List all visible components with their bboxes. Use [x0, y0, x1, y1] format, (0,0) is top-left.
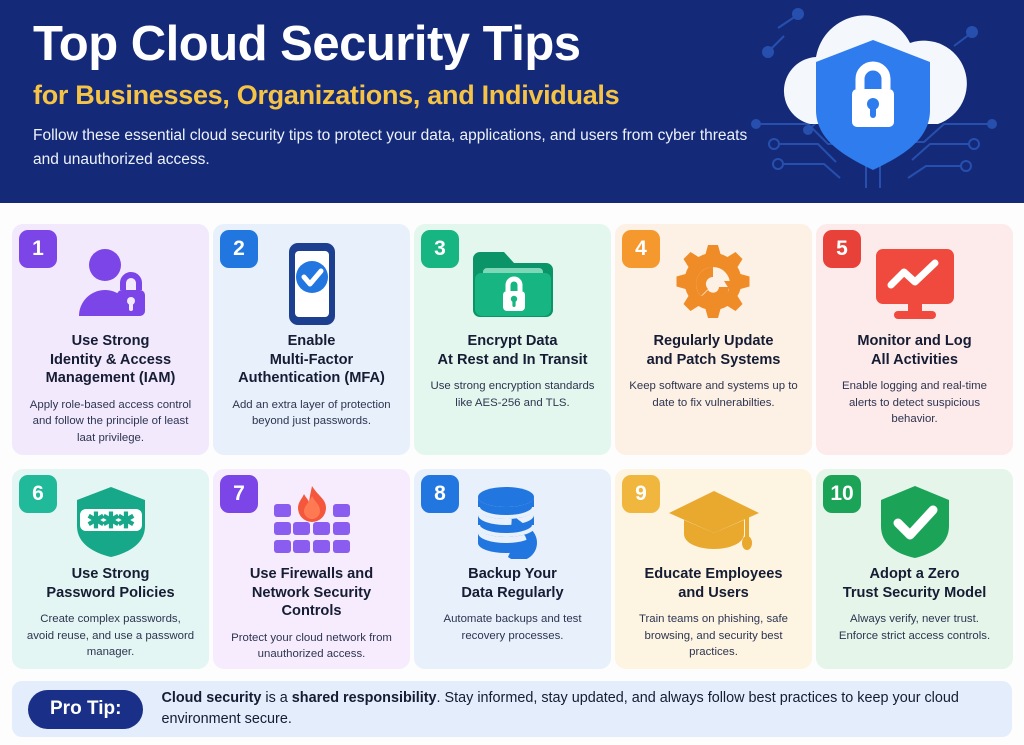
pro-tip-badge: Pro Tip: — [28, 690, 143, 729]
tip-title: Adopt a Zero Trust Security Model — [827, 565, 1002, 602]
tip-number-badge: 1 — [19, 230, 57, 268]
tip-card-8[interactable]: 8 Backup Your Data Regularly Automate ba… — [414, 469, 611, 669]
tip-title: Encrypt Data At Rest and In Transit — [425, 332, 600, 369]
tip-number-badge: 5 — [823, 230, 861, 268]
header-banner: Top Cloud Security Tips for Businesses, … — [0, 0, 1024, 203]
tip-description: Keep software and systems up to date to … — [626, 378, 801, 411]
pro-tip-bold-2: shared responsibility — [292, 690, 437, 706]
tip-card-1[interactable]: 1 Use Strong Identity & Access Managemen… — [12, 224, 209, 455]
pro-tip-bold-1: Cloud security — [161, 690, 261, 706]
svg-text:✱: ✱ — [116, 508, 134, 533]
tip-number-badge: 10 — [823, 475, 861, 513]
tip-description: Automate backups and test recovery proce… — [425, 611, 600, 644]
tip-number-badge: 9 — [622, 475, 660, 513]
tip-title: Use Firewalls and Network Security Contr… — [224, 565, 399, 621]
tip-description: Add an extra layer of protection beyond … — [224, 397, 399, 430]
tip-number-badge: 7 — [220, 475, 258, 513]
tip-card-7[interactable]: 7 — [213, 469, 410, 669]
tip-description: Always verify, never trust. Enforce stri… — [827, 611, 1002, 644]
tips-grid: 1 Use Strong Identity & Access Managemen… — [12, 224, 1012, 669]
page-lede: Follow these essential cloud security ti… — [33, 124, 748, 172]
tip-title: Use Strong Identity & Access Management … — [23, 332, 198, 388]
tip-description: Apply role-based access control and foll… — [23, 397, 198, 446]
pro-tip-bar: Pro Tip: Cloud security is a shared resp… — [12, 681, 1012, 737]
cloud-shield-lock-icon — [748, 6, 998, 196]
tip-card-2[interactable]: 2 Enable Multi-Factor Authentication (MF… — [213, 224, 410, 455]
pro-tip-mid: is a — [261, 690, 291, 706]
tip-card-4[interactable]: 4 Regularly Update and Patch Systems Kee… — [615, 224, 812, 455]
tip-description: Create complex passwords, avoid reuse, a… — [23, 611, 198, 660]
tip-description: Enable logging and real-time alerts to d… — [827, 378, 1002, 427]
tip-number-badge: 3 — [421, 230, 459, 268]
tip-card-6[interactable]: 6 ✱ ✱ ✱ Use Strong Password Policies Cre… — [12, 469, 209, 669]
tip-card-9[interactable]: 9 Educate Employees and Users Train team… — [615, 469, 812, 669]
tip-number-badge: 4 — [622, 230, 660, 268]
tip-description: Train teams on phishing, safe browsing, … — [626, 611, 801, 660]
tip-description: Use strong encryption standards like AES… — [425, 378, 600, 411]
tip-title: Educate Employees and Users — [626, 565, 801, 602]
page-title: Top Cloud Security Tips — [33, 18, 753, 71]
tip-title: Enable Multi-Factor Authentication (MFA) — [224, 332, 399, 388]
tip-number-badge: 8 — [421, 475, 459, 513]
page-subtitle: for Businesses, Organizations, and Indiv… — [33, 80, 753, 111]
tip-description: Protect your cloud network from unauthor… — [224, 630, 399, 663]
infographic-page: Top Cloud Security Tips for Businesses, … — [0, 0, 1024, 745]
tip-title: Monitor and Log All Activities — [827, 332, 1002, 369]
tip-number-badge: 6 — [19, 475, 57, 513]
tip-title: Use Strong Password Policies — [23, 565, 198, 602]
tip-card-10[interactable]: 10 Adopt a Zero Trust Security Model Alw… — [816, 469, 1013, 669]
tip-number-badge: 2 — [220, 230, 258, 268]
tip-title: Regularly Update and Patch Systems — [626, 332, 801, 369]
pro-tip-text: Cloud security is a shared responsibilit… — [161, 688, 996, 731]
tip-card-5[interactable]: 5 Monitor and Log All Activities Enable … — [816, 224, 1013, 455]
tip-card-3[interactable]: 3 Encrypt Data At Rest and In Transit Us… — [414, 224, 611, 455]
tip-title: Backup Your Data Regularly — [425, 565, 600, 602]
